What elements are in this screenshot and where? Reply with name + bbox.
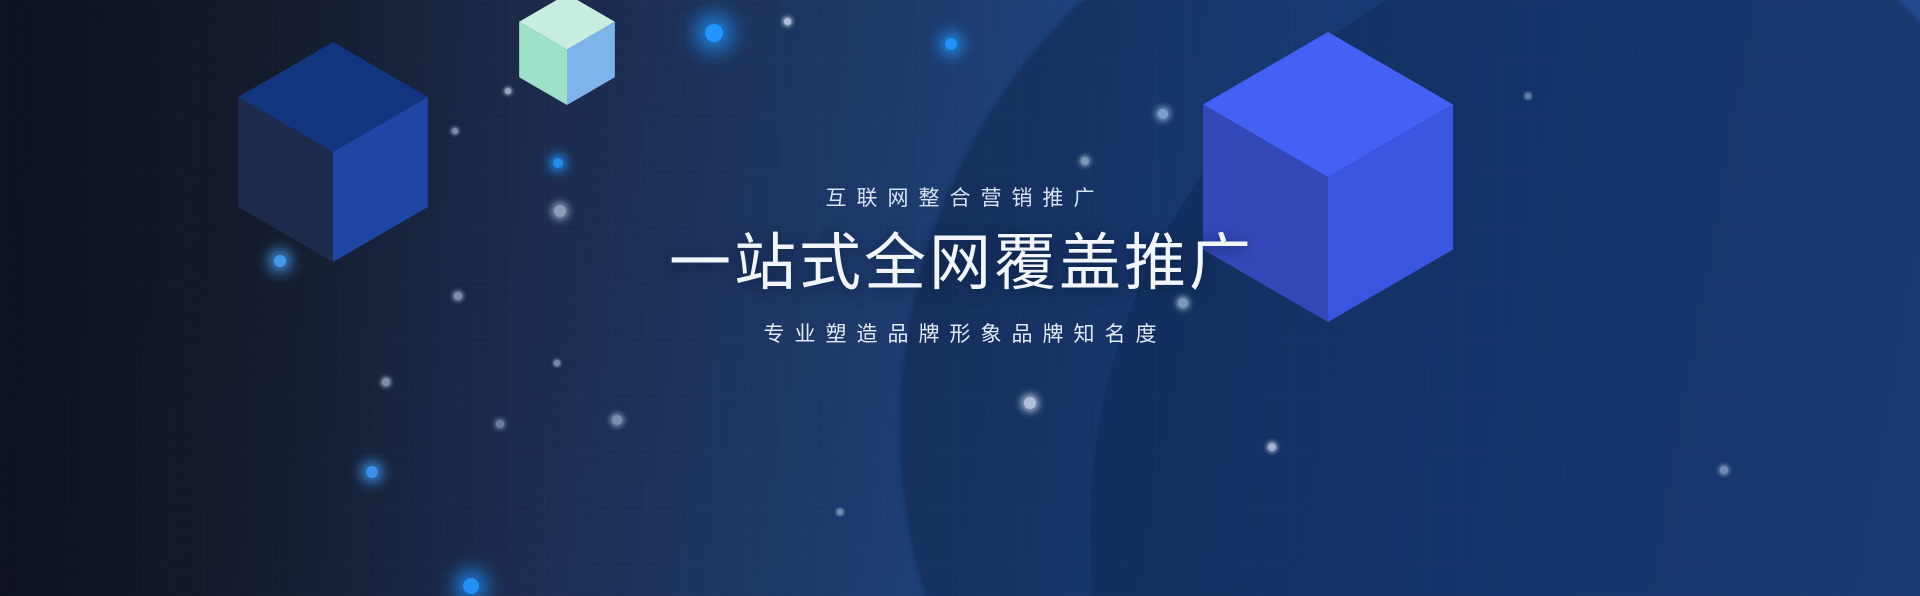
banner-copy: 互联网整合营销推广 一站式全网覆盖推广 专业塑造品牌形象品牌知名度 bbox=[0, 188, 1920, 345]
banner-eyebrow: 互联网整合营销推广 bbox=[0, 188, 1920, 209]
teal-gradient-cube-icon bbox=[519, 0, 615, 105]
banner-subline: 专业塑造品牌形象品牌知名度 bbox=[0, 324, 1920, 345]
particle-dot bbox=[612, 415, 622, 425]
particle-dot bbox=[705, 24, 723, 42]
particle-dot bbox=[452, 128, 458, 134]
page-title: 一站式全网覆盖推广 bbox=[0, 231, 1920, 298]
particle-dot bbox=[837, 509, 843, 515]
particle-dot bbox=[553, 158, 563, 168]
particle-dot bbox=[382, 378, 390, 386]
particle-dot bbox=[505, 88, 511, 94]
particle-dot bbox=[784, 18, 791, 25]
particle-dot bbox=[463, 578, 479, 594]
particle-dot bbox=[366, 466, 378, 478]
particle-dot bbox=[496, 420, 504, 428]
particle-dot bbox=[554, 360, 560, 366]
hero-banner: 互联网整合营销推广 一站式全网覆盖推广 专业塑造品牌形象品牌知名度 bbox=[0, 0, 1920, 596]
particle-dot bbox=[945, 38, 957, 50]
